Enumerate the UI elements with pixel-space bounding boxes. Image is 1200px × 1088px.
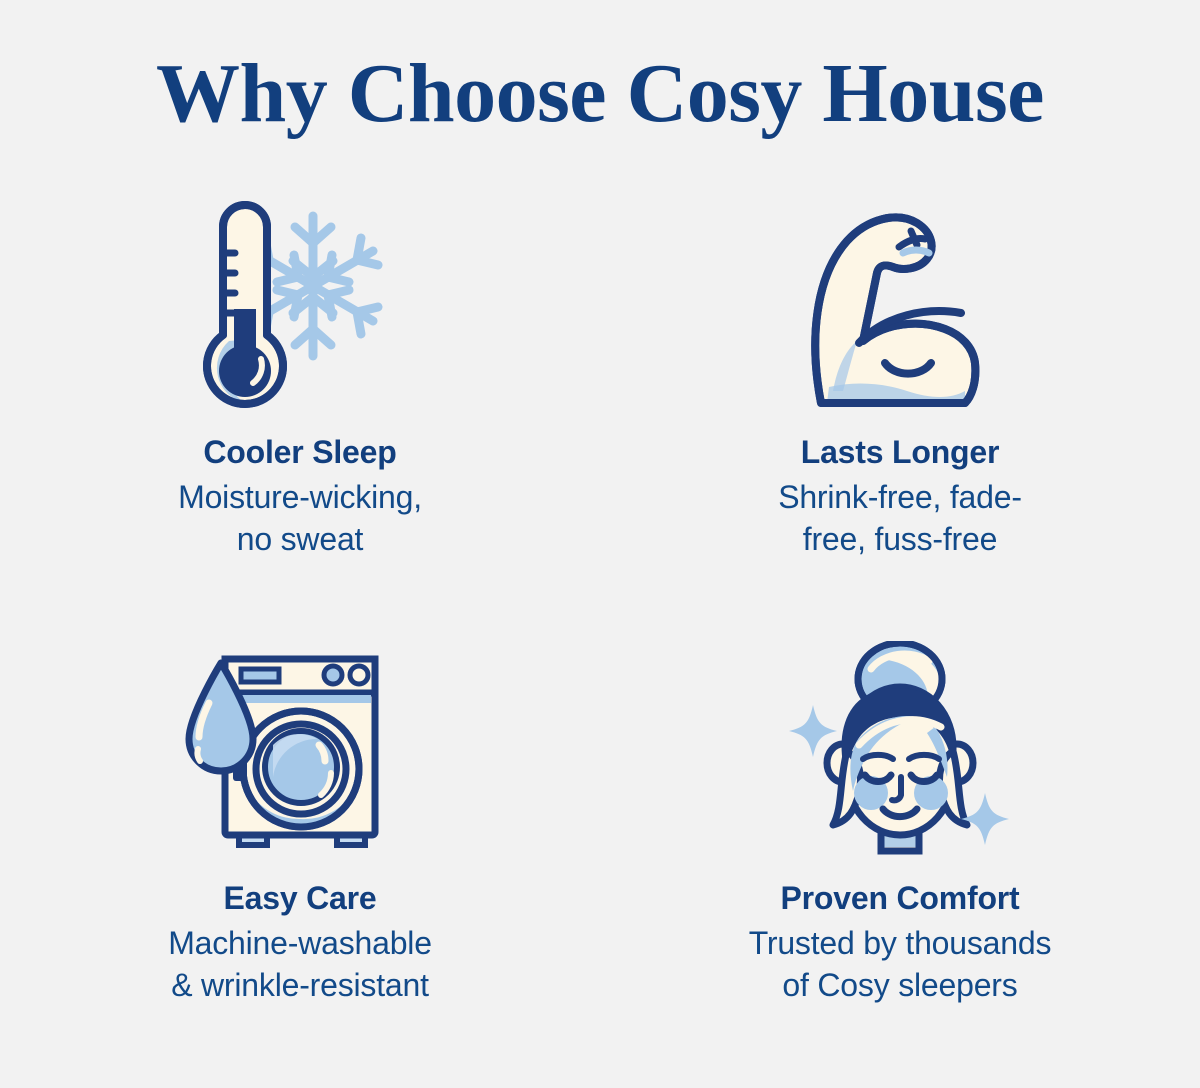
feature-card-proven-comfort: Proven Comfort Trusted by thousands of C… bbox=[600, 630, 1200, 1080]
feature-description-line: free, fuss-free bbox=[803, 521, 997, 557]
feature-title: Proven Comfort bbox=[781, 878, 1020, 918]
feature-description-line: Shrink-free, fade- bbox=[778, 479, 1022, 515]
feature-description-line: of Cosy sleepers bbox=[782, 967, 1017, 1003]
feature-card-lasts-longer: Lasts Longer Shrink-free, fade- free, fu… bbox=[600, 180, 1200, 630]
feature-title: Lasts Longer bbox=[801, 432, 1000, 472]
washing-machine-droplet-icon bbox=[180, 638, 420, 868]
feature-description: Trusted by thousands of Cosy sleepers bbox=[749, 922, 1052, 1006]
feature-card-easy-care: Easy Care Machine-washable & wrinkle-res… bbox=[0, 630, 600, 1080]
feature-description: Machine-washable & wrinkle-resistant bbox=[168, 922, 432, 1006]
feature-description-line: Trusted by thousands bbox=[749, 925, 1052, 961]
feature-description: Shrink-free, fade- free, fuss-free bbox=[778, 476, 1022, 560]
feature-description: Moisture-wicking, no sweat bbox=[178, 476, 422, 560]
flexed-bicep-icon bbox=[780, 188, 1020, 418]
feature-description-line: Moisture-wicking, bbox=[178, 479, 422, 515]
promo-benefits-panel: Why Choose Cosy House bbox=[0, 0, 1200, 1088]
feature-description-line: Machine-washable bbox=[168, 925, 432, 961]
sleeping-face-sparkles-icon bbox=[780, 638, 1020, 868]
page-title: Why Choose Cosy House bbox=[0, 46, 1200, 142]
feature-title: Cooler Sleep bbox=[203, 432, 396, 472]
feature-description-line: no sweat bbox=[237, 521, 363, 557]
thermometer-snowflake-icon bbox=[180, 188, 420, 418]
feature-title: Easy Care bbox=[224, 878, 377, 918]
feature-description-line: & wrinkle-resistant bbox=[171, 967, 429, 1003]
feature-card-cooler-sleep: Cooler Sleep Moisture-wicking, no sweat bbox=[0, 180, 600, 630]
feature-grid: Cooler Sleep Moisture-wicking, no sweat bbox=[0, 180, 1200, 1080]
